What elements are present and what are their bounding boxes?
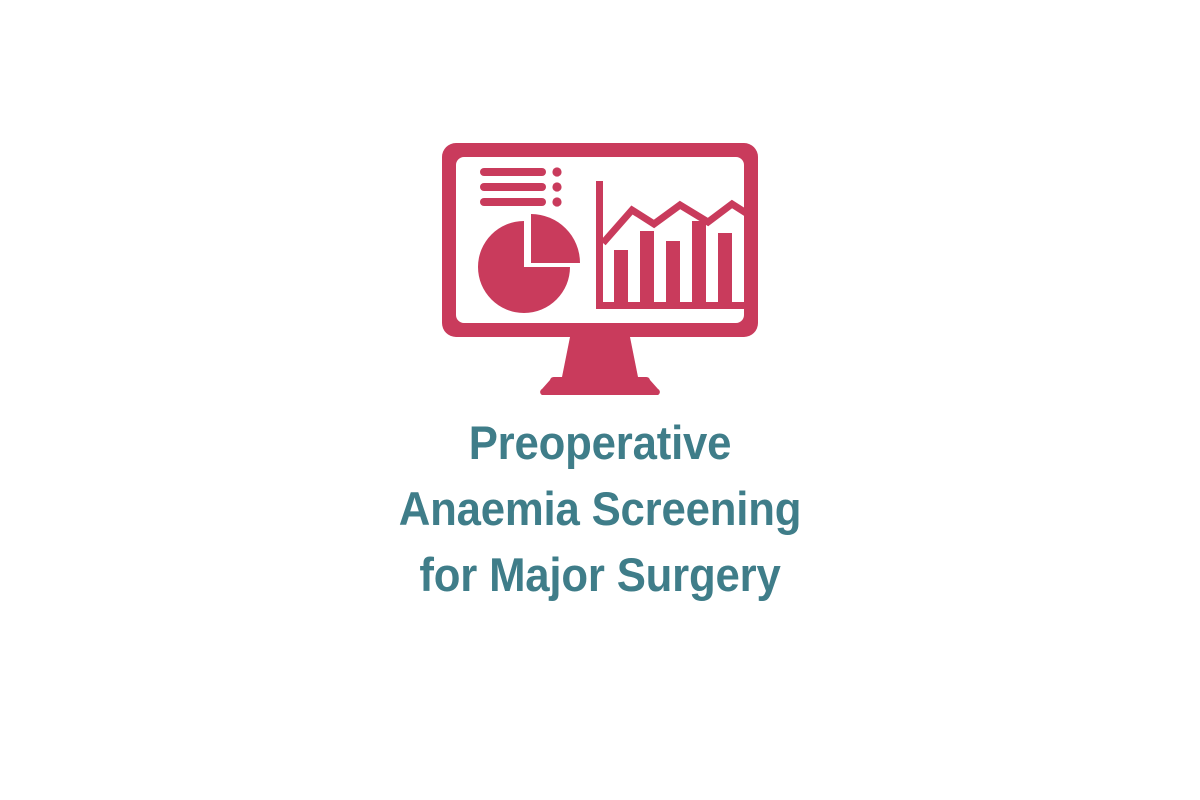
content-card: Preoperative Anaemia Screening for Major… — [0, 0, 1200, 800]
monitor-stand-icon — [540, 337, 660, 395]
page-title-line-1: Preoperative — [42, 410, 1158, 476]
trend-line — [603, 173, 758, 243]
bar-2 — [640, 231, 654, 302]
pie-chart-icon — [478, 214, 580, 313]
page-title-line-3: for Major Surgery — [42, 542, 1158, 608]
list-lines-icon — [480, 167, 562, 206]
bar-chart-icon — [596, 173, 758, 309]
analytics-monitor-graphic — [442, 143, 758, 395]
bar-3 — [666, 241, 680, 302]
bar-5 — [718, 233, 732, 302]
bar-4 — [692, 221, 706, 302]
page-title: Preoperative Anaemia Screening for Major… — [0, 410, 1200, 608]
page-title-line-2: Anaemia Screening — [42, 476, 1158, 542]
bar-6 — [744, 210, 758, 302]
bar-1 — [614, 250, 628, 302]
